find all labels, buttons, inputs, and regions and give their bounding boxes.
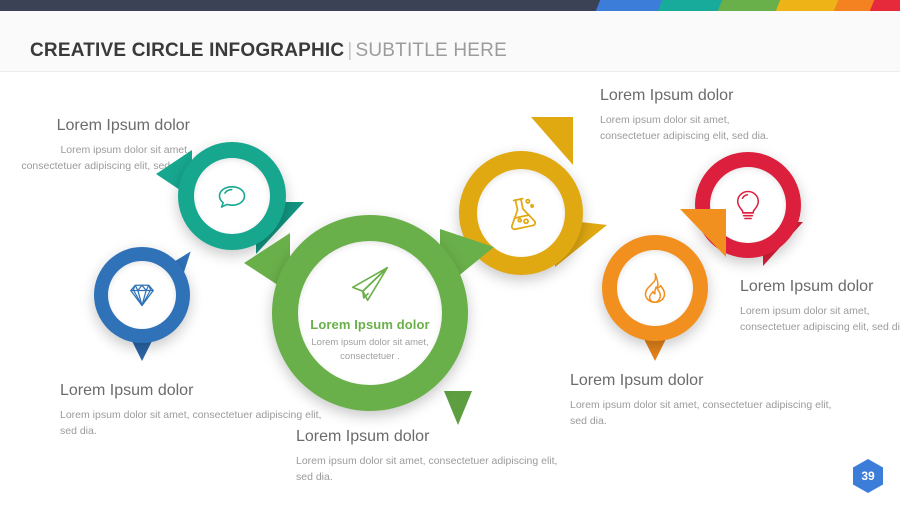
page-title-separator: | bbox=[347, 40, 352, 61]
label-plane-body: Lorem ipsum dolor sit amet, consectetuer… bbox=[296, 453, 566, 486]
label-flask: Lorem Ipsum dolor Lorem ipsum dolor sit … bbox=[600, 86, 780, 145]
label-diamond-body: Lorem ipsum dolor sit amet, consectetuer… bbox=[60, 407, 330, 440]
label-bulb-title: Lorem Ipsum dolor bbox=[740, 277, 900, 296]
node-plane-inner: Lorem Ipsum dolor Lorem ipsum dolor sit … bbox=[298, 241, 442, 385]
node-flame-inner bbox=[617, 250, 693, 326]
diamond-icon bbox=[124, 277, 160, 313]
label-flame-title: Lorem Ipsum dolor bbox=[570, 371, 840, 390]
node-plane-center-title: Lorem Ipsum dolor bbox=[310, 317, 429, 332]
topbar-segment-yellow bbox=[776, 0, 840, 11]
label-bulb: Lorem Ipsum dolor Lorem ipsum dolor sit … bbox=[740, 277, 900, 336]
label-flame: Lorem Ipsum dolor Lorem ipsum dolor sit … bbox=[570, 371, 840, 430]
label-chat-title: Lorem Ipsum dolor bbox=[10, 116, 190, 135]
top-color-bar bbox=[0, 0, 900, 11]
page-title: CREATIVE CIRCLE INFOGRAPHIC|SUBTITLE HER… bbox=[30, 40, 507, 62]
node-plane[interactable]: Lorem Ipsum dolor Lorem ipsum dolor sit … bbox=[272, 215, 468, 411]
paper-plane-icon bbox=[347, 261, 393, 307]
label-plane-title: Lorem Ipsum dolor bbox=[296, 427, 566, 446]
page-title-main: CREATIVE CIRCLE INFOGRAPHIC bbox=[30, 40, 344, 61]
page-number-badge: 39 bbox=[853, 459, 883, 493]
topbar-segment-red bbox=[870, 0, 900, 11]
node-plane-center-body: Lorem ipsum dolor sit amet, consectetuer… bbox=[295, 336, 445, 364]
flame-icon bbox=[636, 269, 674, 307]
slide-header: CREATIVE CIRCLE INFOGRAPHIC|SUBTITLE HER… bbox=[0, 11, 900, 72]
chat-bubble-icon bbox=[212, 176, 252, 216]
node-plane-pin-tail bbox=[444, 391, 472, 425]
page-title-sub: SUBTITLE HERE bbox=[355, 40, 506, 61]
flask-icon bbox=[495, 187, 547, 239]
label-bulb-body: Lorem ipsum dolor sit amet, consectetuer… bbox=[740, 303, 900, 336]
label-plane: Lorem Ipsum dolor Lorem ipsum dolor sit … bbox=[296, 427, 566, 486]
lightbulb-icon bbox=[729, 186, 767, 224]
node-flame[interactable] bbox=[602, 235, 708, 341]
label-flask-title: Lorem Ipsum dolor bbox=[600, 86, 780, 105]
node-chat-inner bbox=[194, 158, 270, 234]
topbar-segment-teal bbox=[658, 0, 724, 11]
label-flame-body: Lorem ipsum dolor sit amet, consectetuer… bbox=[570, 397, 840, 430]
label-flask-body: Lorem ipsum dolor sit amet, consectetuer… bbox=[600, 112, 780, 145]
node-diamond-inner bbox=[108, 261, 176, 329]
node-diamond[interactable] bbox=[94, 247, 190, 343]
slide-canvas: CREATIVE CIRCLE INFOGRAPHIC|SUBTITLE HER… bbox=[0, 0, 900, 506]
topbar-segment-green bbox=[718, 0, 782, 11]
page-number-badge-value: 39 bbox=[861, 469, 874, 483]
topbar-segment-blue bbox=[596, 0, 664, 11]
